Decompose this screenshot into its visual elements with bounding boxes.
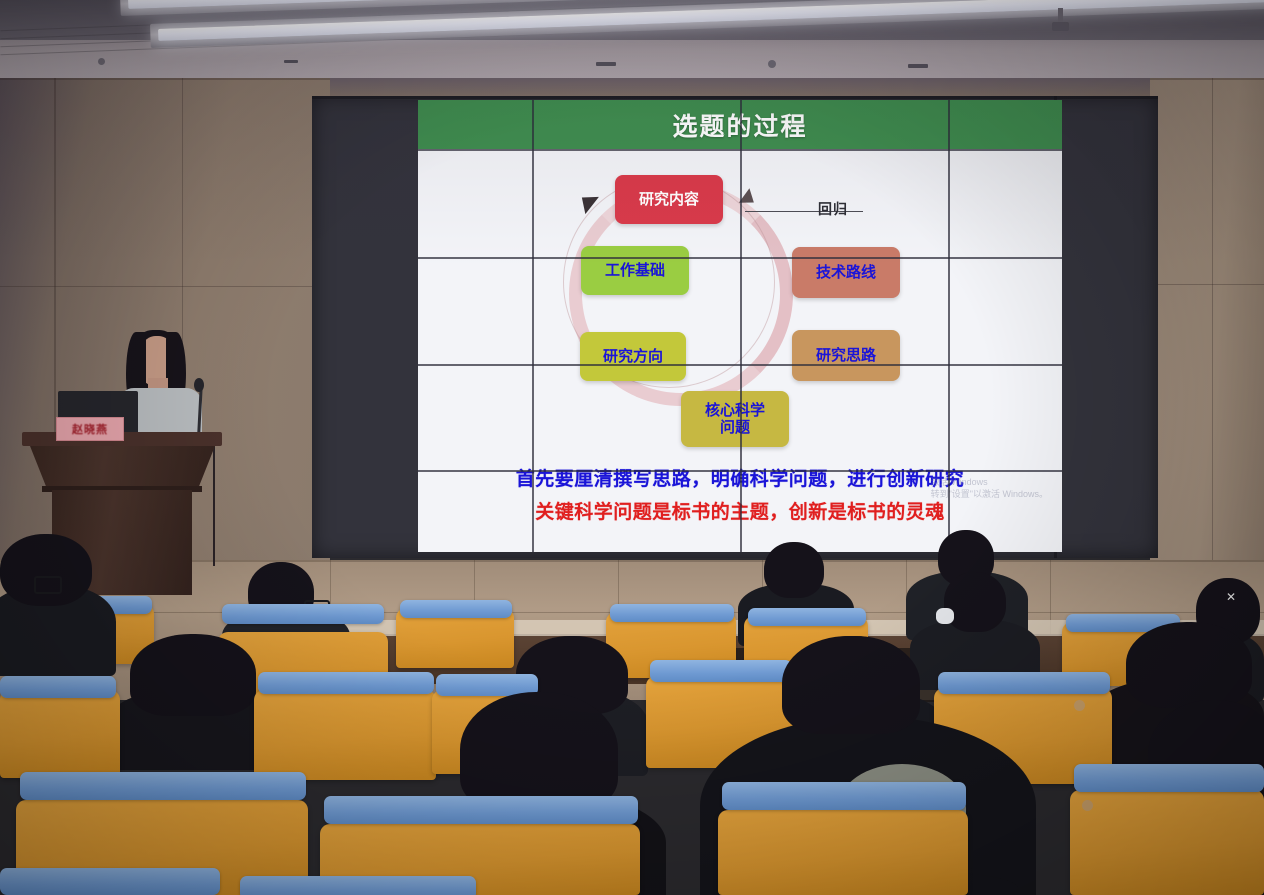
node-label-line1: 核心科学 xyxy=(705,402,765,419)
slide-node-research-direction: 研究方向 xyxy=(580,332,686,381)
node-label: 研究内容 xyxy=(639,191,699,208)
panel-seam-vertical xyxy=(948,100,950,552)
panel-seam-vertical xyxy=(740,100,742,552)
panel-seam-horizontal xyxy=(418,470,1062,472)
ceiling-vent xyxy=(908,64,928,68)
ceiling-vent xyxy=(596,62,616,66)
node-label: 研究方向 xyxy=(603,348,663,365)
node-label: 技术路线 xyxy=(816,264,876,281)
slide-node-research-approach: 研究思路 xyxy=(792,330,900,381)
microphone-head xyxy=(194,378,204,392)
lecture-hall-scene: 选题的过程 回归 研究内容 工作基础 xyxy=(0,0,1264,895)
slide-node-core-question: 核心科学 问题 xyxy=(681,391,789,447)
ceiling-sprinkler xyxy=(768,60,776,68)
podium-name-card: 赵晓燕 xyxy=(56,417,124,441)
return-label: 回归 xyxy=(818,199,848,219)
node-label: 研究思路 xyxy=(816,347,876,364)
slide-node-technical-route: 技术路线 xyxy=(792,247,900,298)
panel-seam-vertical xyxy=(532,100,534,552)
panel-seam-horizontal xyxy=(418,257,1062,259)
node-label: 工作基础 xyxy=(605,262,665,279)
ceiling xyxy=(0,0,1264,84)
podium-name-card-text: 赵晓燕 xyxy=(72,421,108,437)
panel-seam-horizontal xyxy=(418,364,1062,366)
node-label-line2: 问题 xyxy=(720,419,750,436)
slide-node-work-basis: 工作基础 xyxy=(581,246,689,295)
ceiling-vent xyxy=(284,60,298,63)
microphone-cable xyxy=(213,446,241,566)
video-wall-screen: 选题的过程 回归 研究内容 工作基础 xyxy=(418,100,1062,552)
ceiling-sprinkler xyxy=(98,58,105,65)
slide-node-research-content: 研究内容 xyxy=(615,175,723,224)
podium-apron xyxy=(30,446,215,488)
wall-right xyxy=(1150,78,1264,638)
projector-mount-head xyxy=(1052,22,1069,31)
panel-seam-horizontal xyxy=(418,149,1062,151)
